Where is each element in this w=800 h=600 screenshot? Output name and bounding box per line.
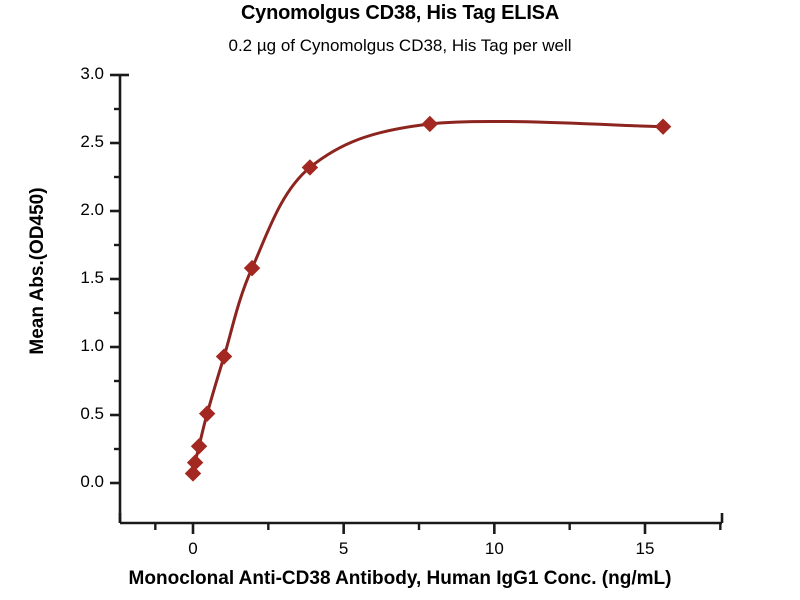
data-curve	[193, 121, 663, 473]
y-tick-label: 0.0	[52, 472, 104, 492]
y-tick-label: 2.0	[52, 200, 104, 220]
data-point-marker	[188, 455, 203, 470]
data-point-marker	[200, 406, 215, 421]
x-tick-label: 15	[625, 539, 665, 559]
x-tick-label: 5	[324, 539, 364, 559]
chart-figure: Cynomolgus CD38, His Tag ELISA 0.2 µg of…	[0, 0, 800, 600]
data-point-marker	[245, 261, 260, 276]
data-point-marker	[192, 439, 207, 454]
x-tick-label: 10	[474, 539, 514, 559]
data-point-marker	[422, 116, 437, 131]
data-point-marker	[656, 119, 671, 134]
data-point-marker	[217, 349, 232, 364]
y-tick-label: 0.5	[52, 404, 104, 424]
y-tick-label: 1.0	[52, 336, 104, 356]
x-tick-label: 0	[173, 539, 213, 559]
y-tick-label: 1.5	[52, 268, 104, 288]
y-tick-label: 3.0	[52, 64, 104, 84]
plot-area	[0, 0, 800, 600]
y-tick-label: 2.5	[52, 132, 104, 152]
